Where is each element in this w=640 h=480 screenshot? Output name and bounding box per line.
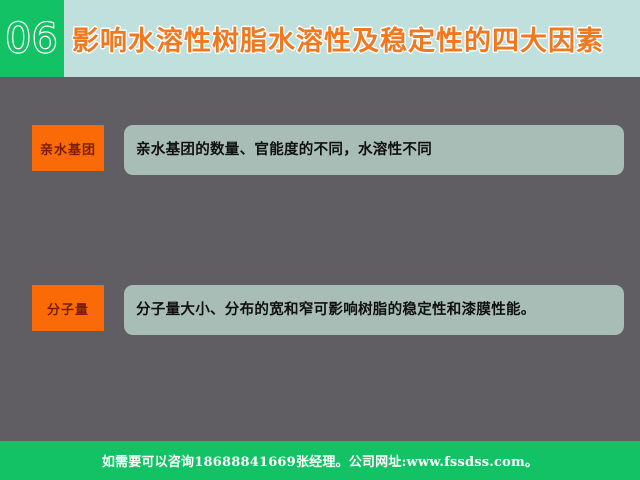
factor-row: 分子量 分子量大小、分布的宽和窄可影响树脂的稳定性和漆膜性能。: [0, 181, 640, 243]
footer-contact-text: 如需要可以咨询18688841669张经理。公司网址:www.fssdss.co…: [102, 451, 538, 470]
slide-canvas: 06 影响水溶性树脂水溶性及稳定性的四大因素 亲水基团 亲水基团的数量、官能度的…: [0, 0, 640, 480]
section-number-badge: 06: [0, 0, 64, 77]
slide-header: 06 影响水溶性树脂水溶性及稳定性的四大因素: [0, 0, 640, 77]
section-number-text: 06: [6, 19, 59, 59]
page-title: 影响水溶性树脂水溶性及稳定性的四大因素: [72, 0, 604, 77]
factor-label-hydrophilic-group[interactable]: 亲水基团: [32, 125, 104, 171]
factor-list: 亲水基团 亲水基团的数量、官能度的不同，水溶性不同 分子量 分子量大小、分布的宽…: [0, 77, 640, 441]
factor-row: 助溶剂 需要考虑中和剂胺类的性能、碳链长短、种类等。会影响树 脂的粘度、涂膜流平…: [0, 341, 640, 413]
factor-row: 中和剂 中和剂的沸点、变色性、可挥发性、助溶效果、用量 都可影响树脂的水溶性、储…: [0, 261, 640, 333]
slide-footer: 如需要可以咨询18688841669张经理。公司网址:www.fssdss.co…: [0, 441, 640, 480]
factor-description-hydrophilic-group: 亲水基团的数量、官能度的不同，水溶性不同: [124, 125, 624, 175]
factor-row: 亲水基团 亲水基团的数量、官能度的不同，水溶性不同: [0, 101, 640, 163]
factor-line: 亲水基团的数量、官能度的不同，水溶性不同: [136, 139, 432, 162]
